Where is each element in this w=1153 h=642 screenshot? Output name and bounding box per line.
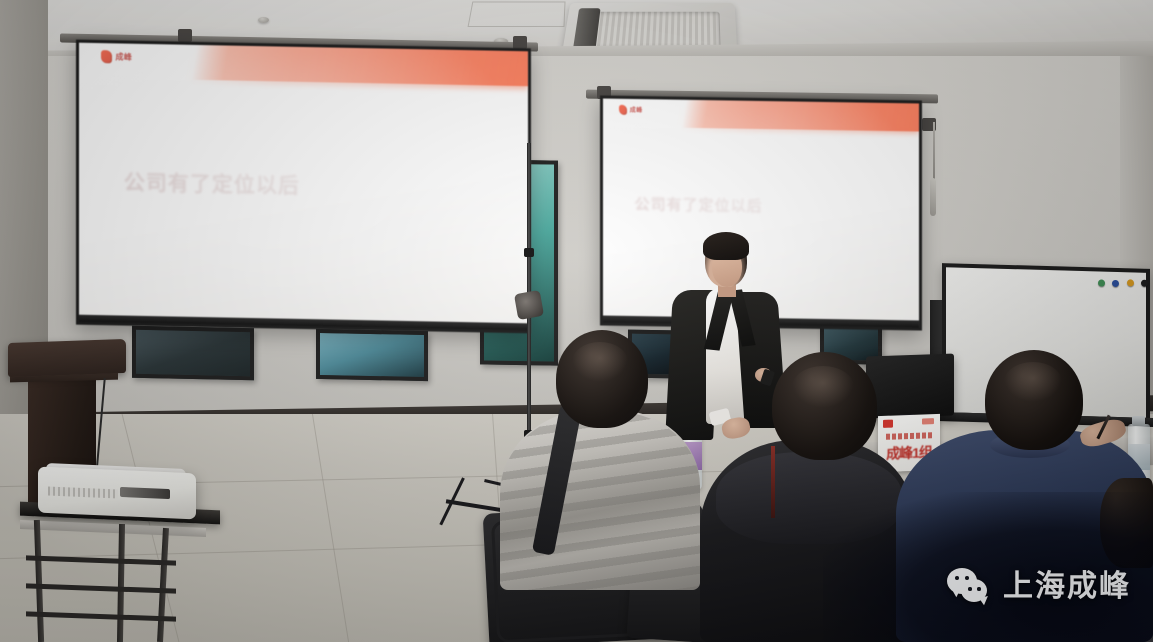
slide-logo: 成峰 bbox=[101, 50, 132, 64]
slide-logo: 成峰 bbox=[619, 105, 643, 115]
wechat-logo-icon bbox=[947, 568, 991, 606]
hoodie-zipper bbox=[771, 446, 775, 518]
card-logo-icon bbox=[883, 420, 893, 428]
whiteboard-magnet[interactable] bbox=[1127, 279, 1134, 286]
slide-title-text: 公司有了定位以后 bbox=[124, 166, 300, 199]
slide-logo-text: 成峰 bbox=[115, 52, 132, 63]
wall-picture-frame bbox=[132, 326, 254, 381]
ceiling-access-panel bbox=[468, 2, 566, 27]
hair-highlight bbox=[792, 366, 854, 408]
screen-pull-cord[interactable] bbox=[933, 122, 935, 180]
bottle-cap bbox=[1132, 416, 1145, 426]
projector-port-panel bbox=[120, 487, 170, 499]
slide-title-text: 公司有了定位以后 bbox=[635, 193, 763, 216]
podium bbox=[8, 339, 126, 377]
wechat-bubble-small bbox=[961, 579, 987, 602]
computer-monitor bbox=[866, 353, 954, 418]
hair-highlight bbox=[1004, 362, 1062, 402]
watermark: 上海成峰 bbox=[947, 568, 1131, 606]
card-logo-secondary-icon bbox=[922, 418, 934, 424]
attendee-hood bbox=[716, 452, 902, 544]
wechat-bubble-eye bbox=[968, 587, 972, 591]
whiteboard-magnet[interactable] bbox=[1141, 280, 1148, 287]
wechat-bubble-eye bbox=[977, 587, 981, 591]
frame-artwork bbox=[136, 330, 250, 376]
wechat-bubble-eye bbox=[965, 576, 969, 580]
hair-highlight bbox=[572, 342, 628, 382]
company-logo-mark-icon bbox=[101, 50, 112, 63]
whiteboard-magnet[interactable] bbox=[1098, 279, 1105, 286]
slide-surface: 成峰 公司有了定位以后 bbox=[79, 43, 528, 331]
presenter-hair bbox=[703, 232, 749, 260]
attendee-shirt-stripes bbox=[500, 412, 700, 590]
wall-picture-frame bbox=[316, 329, 428, 381]
ceiling-sprinkler bbox=[258, 17, 269, 23]
company-logo-mark-icon bbox=[619, 105, 627, 115]
tripod-head-mount bbox=[514, 290, 544, 320]
frame-artwork bbox=[320, 333, 424, 377]
photo-scene: 成峰 公司有了定位以后 成峰 公司有了定位以后 bbox=[0, 0, 1153, 642]
slide-accent-band-glow bbox=[603, 99, 919, 134]
screen-rail-bracket bbox=[513, 36, 527, 49]
tripod-adjust-knob[interactable] bbox=[524, 248, 534, 257]
watermark-account-name: 上海成峰 bbox=[1003, 572, 1131, 602]
card-subtitle-line bbox=[886, 432, 932, 440]
slide-accent-band-glow bbox=[79, 43, 528, 89]
slide-logo-text: 成峰 bbox=[630, 105, 643, 114]
ac-grille bbox=[581, 12, 720, 49]
left-projection-screen: 成峰 公司有了定位以后 bbox=[76, 40, 531, 334]
floor-tile-seam bbox=[312, 414, 349, 642]
attendee-far-right bbox=[1100, 478, 1153, 568]
screen-rail-bracket bbox=[178, 29, 192, 42]
wechat-bubble-eye bbox=[955, 576, 959, 580]
screen-cord-handle[interactable] bbox=[930, 178, 936, 216]
whiteboard-magnet[interactable] bbox=[1112, 280, 1119, 287]
